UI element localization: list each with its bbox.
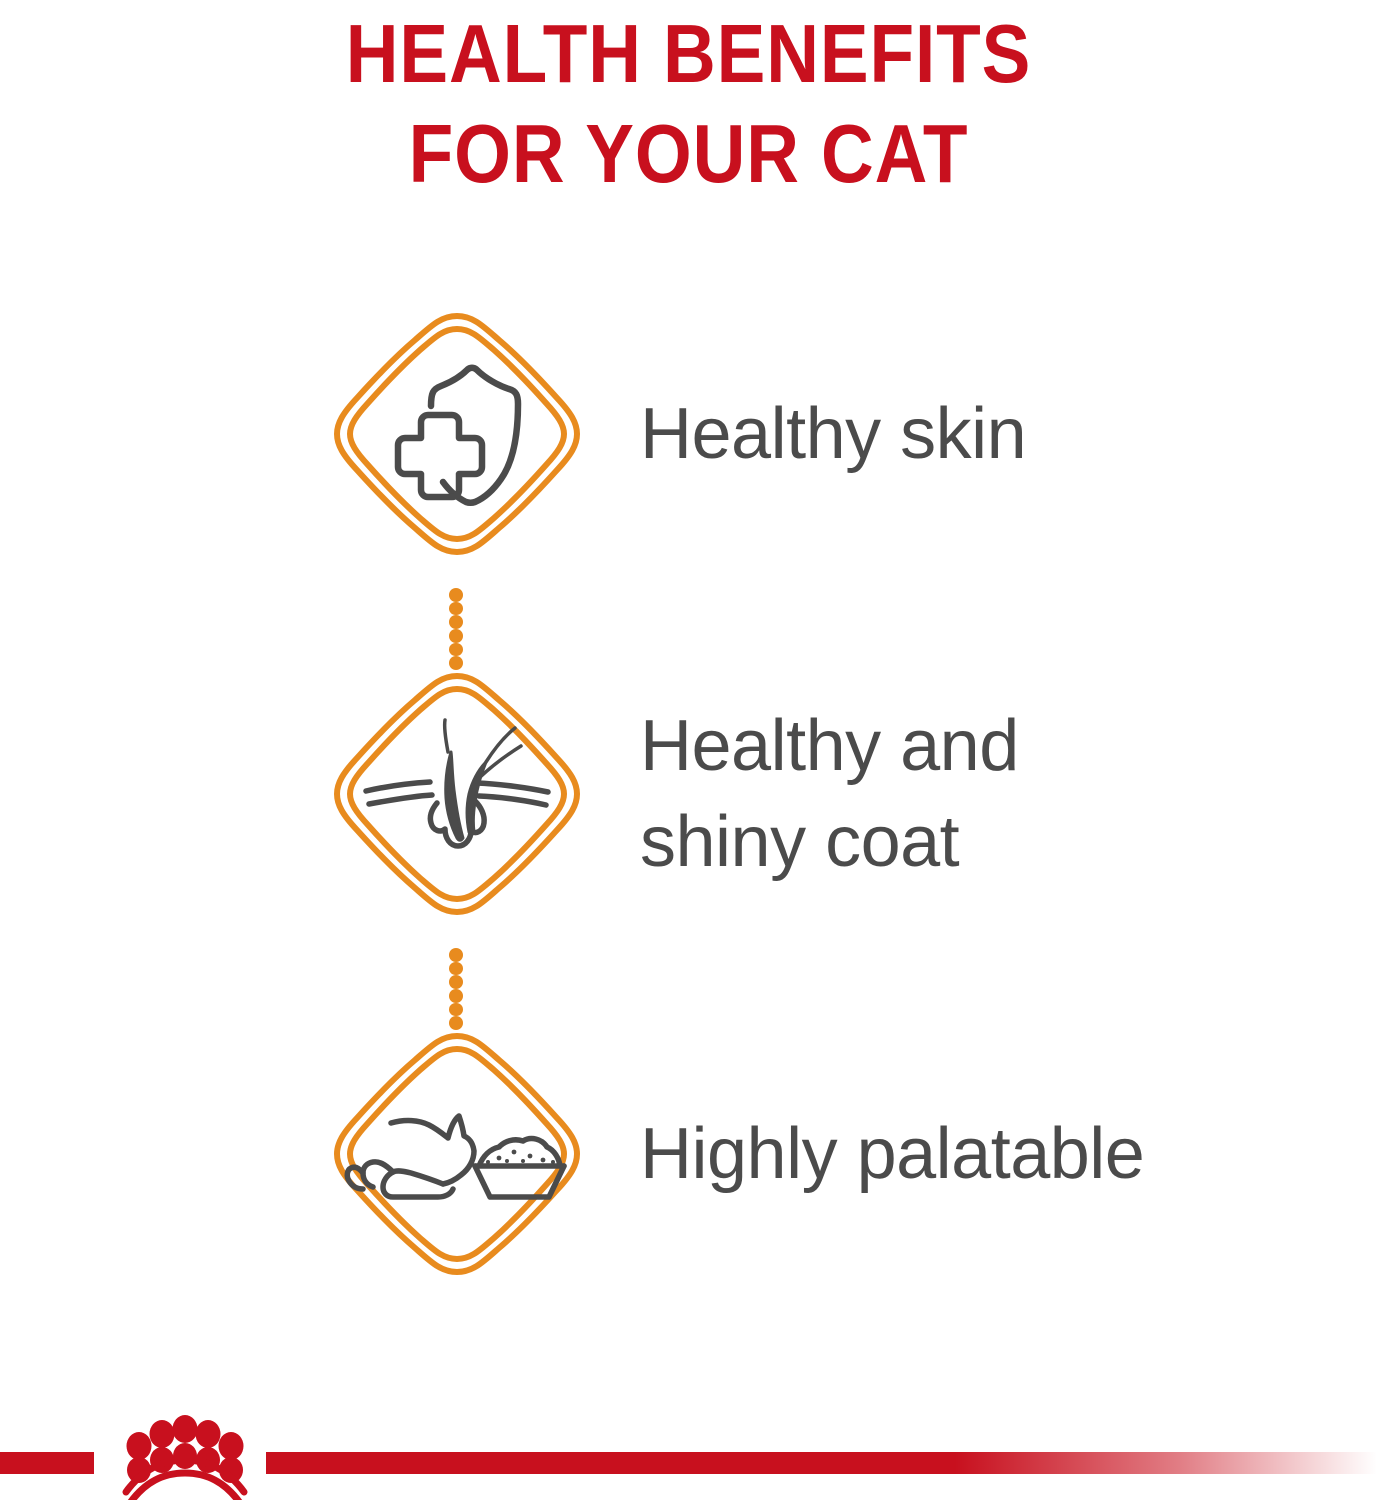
connector-dot bbox=[449, 656, 463, 670]
benefit-item: Healthy and shiny coat bbox=[0, 670, 1377, 918]
page-title: HEALTH BENEFITS FOR YOUR CAT bbox=[0, 0, 1377, 204]
connector-dot bbox=[449, 989, 463, 1003]
benefit-item: Highly palatable bbox=[0, 1030, 1377, 1278]
cat-eating-bowl-icon bbox=[347, 1116, 564, 1197]
footer bbox=[0, 1390, 1377, 1500]
connector-dot bbox=[449, 615, 463, 629]
connector-dot bbox=[449, 588, 463, 602]
connector-dot bbox=[449, 1003, 463, 1017]
benefit-item: Healthy skin bbox=[0, 310, 1377, 558]
benefit-icon-frame bbox=[333, 670, 581, 918]
page-title-line-1: HEALTH BENEFITS bbox=[83, 4, 1295, 104]
benefit-label: Healthy skin bbox=[640, 310, 1026, 558]
plus-cross-icon bbox=[398, 415, 482, 497]
connector-dot bbox=[449, 962, 463, 976]
footer-rule-right bbox=[266, 1452, 1377, 1474]
connector-dots-2 bbox=[449, 948, 463, 1030]
benefit-label: Highly palatable bbox=[640, 1030, 1144, 1278]
royal-canin-crown-logo bbox=[100, 1408, 270, 1500]
benefits-list: Healthy skin bbox=[0, 310, 1377, 1278]
footer-rule-left bbox=[0, 1452, 94, 1474]
connector-dot bbox=[449, 629, 463, 643]
benefit-label: Healthy and shiny coat bbox=[640, 670, 1019, 918]
connector-dot bbox=[449, 975, 463, 989]
connector-dot bbox=[449, 602, 463, 616]
connector-dot bbox=[449, 948, 463, 962]
benefit-icon-frame bbox=[333, 310, 581, 558]
benefit-icon-frame bbox=[333, 1030, 581, 1278]
page-title-line-2: FOR YOUR CAT bbox=[83, 104, 1295, 204]
connector-dots-1 bbox=[449, 588, 463, 670]
connector-dot bbox=[449, 1016, 463, 1030]
connector-dot bbox=[449, 643, 463, 657]
